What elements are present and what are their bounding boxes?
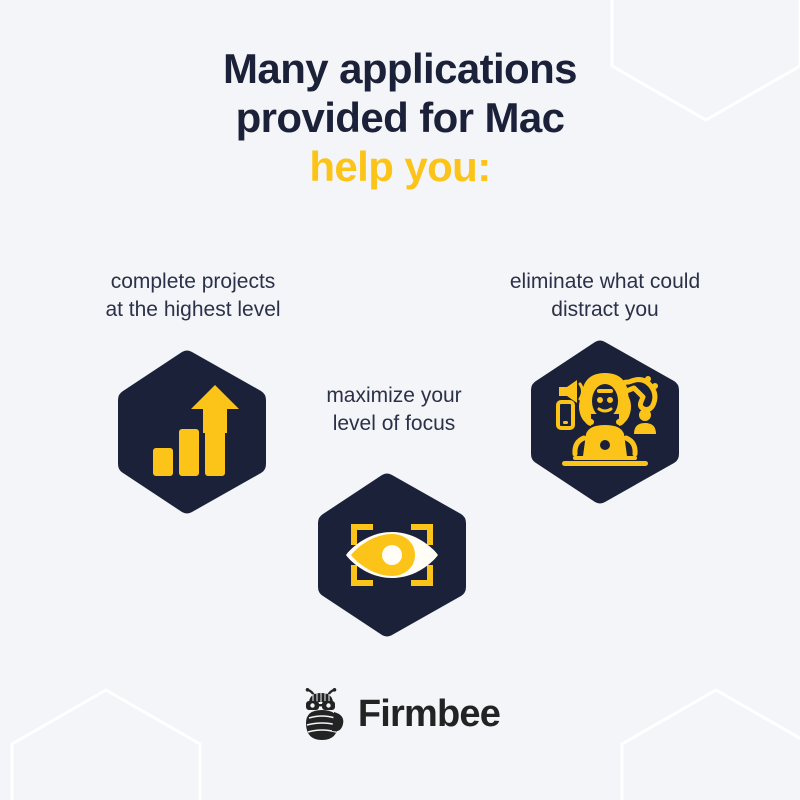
firmbee-wordmark: Firmbee	[358, 695, 500, 733]
eye-pupil	[382, 545, 402, 565]
card-projects-label: complete projects at the highest level	[48, 268, 338, 323]
title-line-1: Many applications	[0, 44, 800, 93]
title-line-3-accent: help you:	[0, 142, 800, 191]
title-line-2: provided for Mac	[0, 93, 800, 142]
hexagon-focus	[313, 472, 471, 638]
hexagon-shape	[531, 341, 679, 504]
page-title: Many applications provided for Mac help …	[0, 44, 800, 191]
top-labels-row: complete projects at the highest level e…	[0, 268, 800, 328]
hexagon-projects	[113, 349, 271, 515]
card-distraction-label: eliminate what could distract you	[460, 268, 750, 323]
card-focus-label: maximize your level of focus	[294, 382, 494, 437]
hexagon-distraction	[526, 339, 684, 505]
firmbee-bee-logo-icon	[300, 688, 346, 740]
footer-logo: Firmbee	[0, 688, 800, 740]
